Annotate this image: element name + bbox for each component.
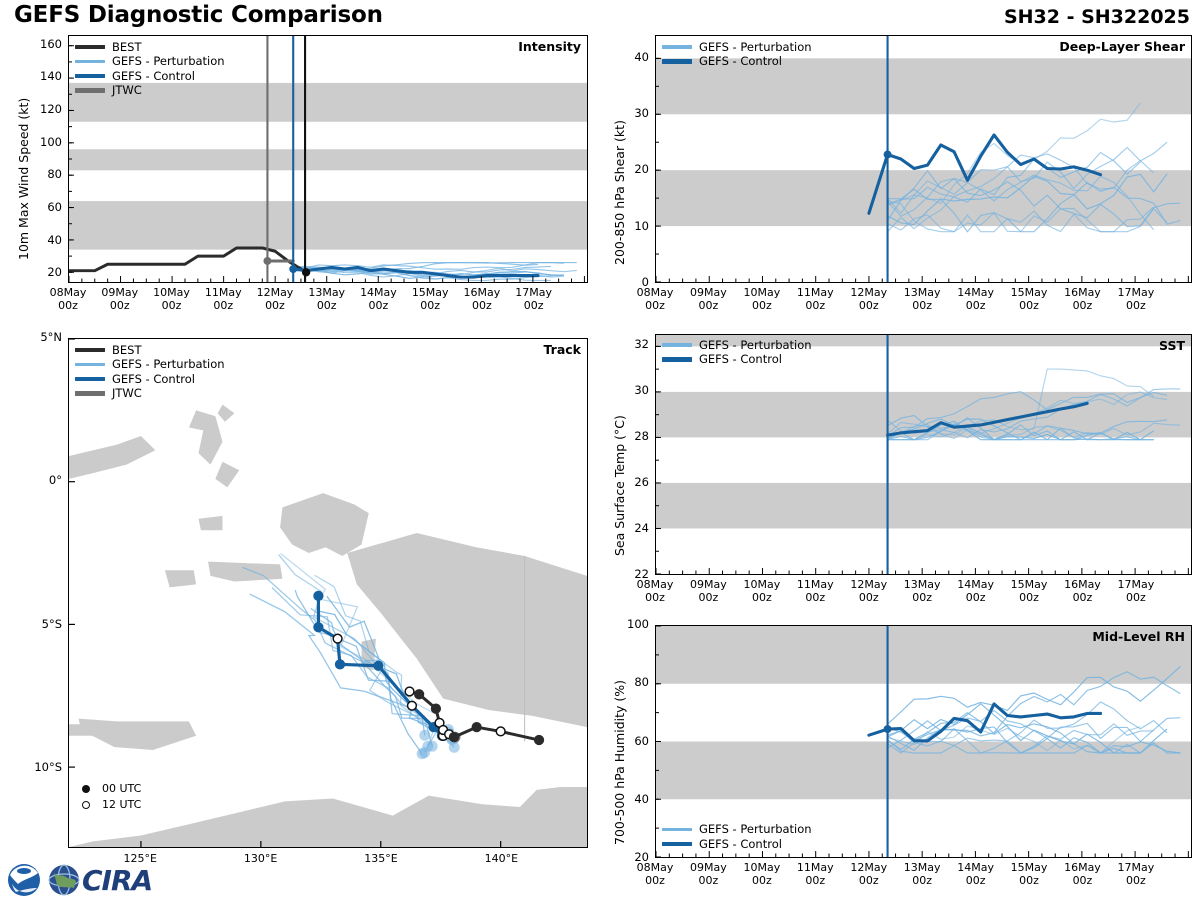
x-tick-label: 08May 00z (625, 578, 685, 604)
sst-panel-title: SST (1159, 338, 1185, 353)
control-swatch (662, 59, 692, 63)
x-tick-label: 17May 00z (504, 286, 564, 312)
y-tick-label: 100 (22, 135, 62, 149)
shear-panel-title: Deep-Layer Shear (1059, 39, 1185, 54)
legend-row-control: GEFS - Control (75, 69, 225, 83)
landmass (69, 436, 155, 479)
track-marker-12utc (496, 727, 505, 736)
shaded-band (656, 170, 1191, 226)
y-tick-label: 30 (609, 106, 649, 120)
best-end-marker (302, 268, 310, 276)
landmass (218, 405, 235, 422)
open-circle-icon (82, 801, 90, 809)
landmass (69, 724, 98, 735)
shaded-band (656, 483, 1191, 529)
perturbation-swatch (662, 828, 692, 832)
x-tick-label: 16May 00z (1052, 578, 1112, 604)
x-tick-label: 10May 00z (732, 861, 792, 887)
best-swatch (75, 45, 105, 49)
shear-legend: GEFS - Perturbation GEFS - Control (662, 40, 812, 69)
map-x-tick-label: 130°E (231, 852, 291, 865)
y-tick-label: 40 (609, 792, 649, 806)
perturbation-swatch (662, 45, 692, 49)
landmass (189, 410, 223, 464)
legend-row-perturbation: GEFS - Perturbation (662, 40, 812, 54)
landmass (79, 719, 197, 750)
intensity-panel: Intensity BEST GEFS - Perturbation GEFS … (68, 35, 588, 283)
legend-row-perturbation: GEFS - Perturbation (75, 54, 225, 68)
init-marker (884, 725, 892, 733)
sst-panel: SST GEFS - Perturbation GEFS - Control (655, 334, 1192, 575)
rh-panel: Mid-Level RH GEFS - Perturbation GEFS - … (655, 625, 1192, 858)
track-panel-title: Track (544, 342, 581, 357)
legend-label-best: BEST (112, 40, 141, 54)
track-marker-12utc (405, 687, 414, 696)
legend-row-perturbation: GEFS - Perturbation (662, 822, 812, 836)
marker-row-12utc: 12 UTC (75, 797, 141, 813)
landmass (208, 562, 282, 582)
map-y-tick-label: 10°S (14, 760, 62, 774)
y-tick-label: 20 (22, 265, 62, 279)
perturbation-swatch (75, 60, 105, 64)
track-marker-12utc (333, 634, 342, 643)
x-tick-label: 16May 00z (1052, 286, 1112, 312)
perturbation-swatch (662, 343, 692, 347)
init-marker (884, 151, 892, 159)
x-tick-label: 08May 00z (625, 286, 685, 312)
x-tick-label: 14May 00z (946, 578, 1006, 604)
x-tick-label: 12May 00z (839, 578, 899, 604)
control-swatch (662, 357, 692, 361)
intensity-panel-title: Intensity (518, 39, 581, 54)
track-marker-legend: 00 UTC 12 UTC (75, 781, 141, 813)
x-tick-label: 15May 00z (999, 861, 1059, 887)
x-tick-label: 11May 00z (785, 578, 845, 604)
landmass (69, 787, 587, 847)
y-tick-label: 32 (609, 337, 649, 351)
legend-label-jtwc: JTWC (112, 386, 142, 400)
shaded-band (69, 201, 587, 250)
x-tick-label: 14May 00z (946, 861, 1006, 887)
x-tick-label: 09May 00z (678, 861, 738, 887)
control-swatch (75, 377, 105, 381)
marker-label-12utc: 12 UTC (102, 797, 141, 813)
x-tick-label: 17May 00z (1106, 861, 1166, 887)
x-tick-label: 16May 00z (1052, 861, 1112, 887)
y-tick-label: 24 (609, 521, 649, 535)
legend-row-best: BEST (75, 343, 225, 357)
jtwc-marker (263, 257, 271, 265)
y-tick-label: 30 (609, 383, 649, 397)
x-tick-label: 13May 00z (892, 861, 952, 887)
y-tick-label: 160 (22, 37, 62, 51)
cira-wordmark: CIRA (82, 864, 152, 897)
map-x-tick-label: 140°E (471, 852, 531, 865)
y-tick-label: 20 (609, 162, 649, 176)
track-marker-00utc (314, 623, 323, 632)
legend-row-control: GEFS - Control (662, 837, 812, 851)
shaded-band (69, 149, 587, 170)
legend-row-jtwc: JTWC (75, 386, 225, 400)
landmass (280, 493, 369, 556)
y-tick-label: 10 (609, 219, 649, 233)
logo-bar: CIRA (6, 862, 152, 898)
x-tick-label: 13May 00z (892, 286, 952, 312)
track-marker-00utc (336, 660, 345, 669)
shear-plot-canvas (656, 36, 1191, 282)
track-marker-00utc (472, 723, 481, 732)
legend-row-control: GEFS - Control (662, 54, 812, 68)
legend-label-control: GEFS - Control (112, 372, 195, 386)
y-tick-label: 60 (22, 200, 62, 214)
legend-label-control: GEFS - Control (112, 69, 195, 83)
legend-label-best: BEST (112, 343, 141, 357)
track-legend: BEST GEFS - Perturbation GEFS - Control … (75, 343, 225, 401)
track-marker-00utc (432, 704, 441, 713)
landmass (215, 462, 239, 488)
legend-row-control: GEFS - Control (75, 372, 225, 386)
jtwc-swatch (75, 391, 105, 395)
perturbation-swatch (75, 363, 105, 367)
legend-row-best: BEST (75, 40, 225, 54)
x-tick-label: 09May 00z (678, 286, 738, 312)
intensity-legend: BEST GEFS - Perturbation GEFS - Control … (75, 40, 225, 98)
cira-globe-icon (48, 864, 80, 896)
x-tick-label: 10May 00z (732, 286, 792, 312)
x-tick-label: 17May 00z (1106, 286, 1166, 312)
page-title: GEFS Diagnostic Comparison (14, 2, 383, 28)
map-y-tick-label: 0° (14, 473, 62, 487)
legend-label-perturbation: GEFS - Perturbation (699, 338, 812, 352)
storm-id-label: SH32 - SH322025 (1004, 6, 1190, 28)
x-tick-label: 11May 00z (785, 286, 845, 312)
track-panel: Track BEST GEFS - Perturbation GEFS - Co… (68, 338, 588, 848)
map-x-tick-label: 135°E (351, 852, 411, 865)
jtwc-swatch (75, 88, 105, 92)
legend-label-perturbation: GEFS - Perturbation (699, 822, 812, 836)
track-marker-12utc (408, 701, 417, 710)
legend-label-perturbation: GEFS - Perturbation (699, 40, 812, 54)
legend-label-perturbation: GEFS - Perturbation (112, 357, 225, 371)
marker-label-00utc: 00 UTC (102, 781, 141, 797)
rh-y-axis-title: 700-500 hPa Humidity (%) (612, 680, 627, 845)
legend-label-control: GEFS - Control (699, 837, 782, 851)
map-y-tick-label: 5°S (14, 617, 62, 631)
init-marker (289, 265, 297, 273)
noaa-logo-icon (6, 862, 46, 898)
legend-row-perturbation: GEFS - Perturbation (662, 338, 812, 352)
sst-legend: GEFS - Perturbation GEFS - Control (662, 338, 812, 367)
x-tick-label: 15May 00z (999, 578, 1059, 604)
y-tick-label: 100 (609, 617, 649, 631)
x-tick-label: 09May 00z (678, 578, 738, 604)
y-tick-label: 40 (609, 50, 649, 64)
marker-row-00utc: 00 UTC (75, 781, 141, 797)
control-swatch (662, 842, 692, 846)
control-swatch (75, 74, 105, 78)
track-marker-00utc (314, 591, 323, 600)
x-tick-label: 14May 00z (946, 286, 1006, 312)
x-tick-label: 12May 00z (839, 286, 899, 312)
sst-plot-canvas (656, 335, 1191, 574)
landmass (165, 570, 196, 587)
legend-label-perturbation: GEFS - Perturbation (112, 54, 225, 68)
track-marker-00utc (374, 661, 383, 670)
legend-row-perturbation: GEFS - Perturbation (75, 357, 225, 371)
legend-label-control: GEFS - Control (699, 54, 782, 68)
legend-label-jtwc: JTWC (112, 83, 142, 97)
legend-row-control: GEFS - Control (662, 352, 812, 366)
legend-label-control: GEFS - Control (699, 352, 782, 366)
rh-legend: GEFS - Perturbation GEFS - Control (662, 822, 812, 851)
track-marker-00utc (415, 690, 424, 699)
x-tick-label: 08May 00z (625, 861, 685, 887)
y-tick-label: 28 (609, 429, 649, 443)
x-tick-label: 15May 00z (999, 286, 1059, 312)
y-tick-label: 80 (22, 167, 62, 181)
map-y-tick-label: 5°N (14, 330, 62, 344)
track-map-canvas (69, 339, 587, 847)
y-tick-label: 26 (609, 475, 649, 489)
landmass (199, 516, 223, 530)
perturbation-endpoint (427, 741, 438, 752)
filled-circle-icon (82, 785, 90, 793)
track-marker-00utc (450, 733, 459, 742)
x-tick-label: 13May 00z (892, 578, 952, 604)
rh-panel-title: Mid-Level RH (1092, 629, 1185, 644)
shear-y-axis-title: 200-850 hPa Shear (kt) (612, 120, 627, 265)
x-tick-label: 17May 00z (1106, 578, 1166, 604)
track-marker-00utc (535, 736, 544, 745)
best-swatch (75, 348, 105, 352)
x-tick-label: 10May 00z (732, 578, 792, 604)
x-tick-label: 12May 00z (839, 861, 899, 887)
x-tick-label: 11May 00z (785, 861, 845, 887)
y-tick-label: 140 (22, 69, 62, 83)
legend-row-jtwc: JTWC (75, 83, 225, 97)
y-tick-label: 60 (609, 734, 649, 748)
y-tick-label: 40 (22, 233, 62, 247)
y-tick-label: 80 (609, 675, 649, 689)
shear-panel: Deep-Layer Shear GEFS - Perturbation GEF… (655, 35, 1192, 283)
y-tick-label: 120 (22, 102, 62, 116)
